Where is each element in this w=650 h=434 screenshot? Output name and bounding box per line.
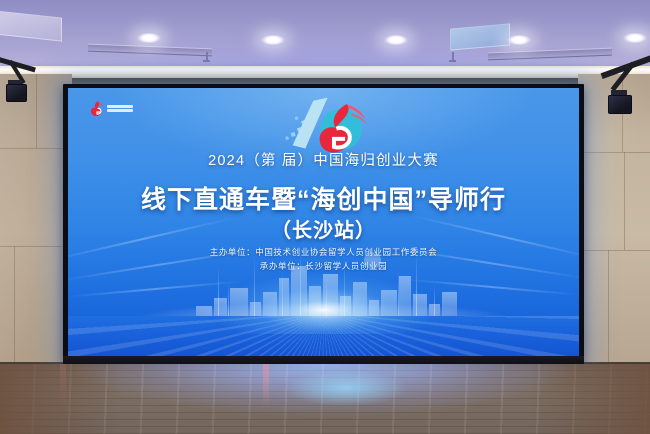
slide-subtitle: （长沙站） (68, 214, 579, 243)
ceiling-soffit-bar (0, 66, 650, 78)
ceiling-downlight (260, 34, 286, 46)
left-wall-sheen (0, 74, 72, 364)
organizer-line: 主办单位：中国技术创业协会留学人员创业园工作委员会 (68, 246, 579, 258)
floor-hotspot (286, 370, 406, 406)
slide-text-block: 2024（第 届）中国海归创业大赛 线下直通车暨“海创中国”导师行 （长沙站） … (68, 88, 579, 356)
ceiling-downlight (622, 32, 648, 44)
ceiling-glow (0, 0, 650, 72)
floor-red-streak (263, 364, 269, 434)
slide-title: 线下直通车暨“海创中国”导师行 (68, 180, 579, 216)
right-wall-sheen (578, 74, 650, 364)
ceiling-vent-cap-left (203, 60, 210, 62)
ceiling-downlight (506, 34, 532, 46)
floor-edge-left (0, 364, 120, 434)
event-series-line: 2024（第 届）中国海归创业大赛 (68, 149, 579, 170)
ceiling-vent-cap-right (449, 60, 456, 62)
ceiling-downlight (383, 34, 409, 46)
conference-hall-photo: 2024（第 届）中国海归创业大赛 线下直通车暨“海创中国”导师行 （长沙站） … (0, 0, 650, 434)
ceiling-downlight (136, 32, 162, 44)
floor-edge-right (530, 364, 650, 434)
host-line: 承办单位：长沙留学人员创业园 (68, 260, 579, 272)
led-screen: 2024（第 届）中国海归创业大赛 线下直通车暨“海创中国”导师行 （长沙站） … (68, 88, 579, 356)
floor (0, 364, 650, 434)
